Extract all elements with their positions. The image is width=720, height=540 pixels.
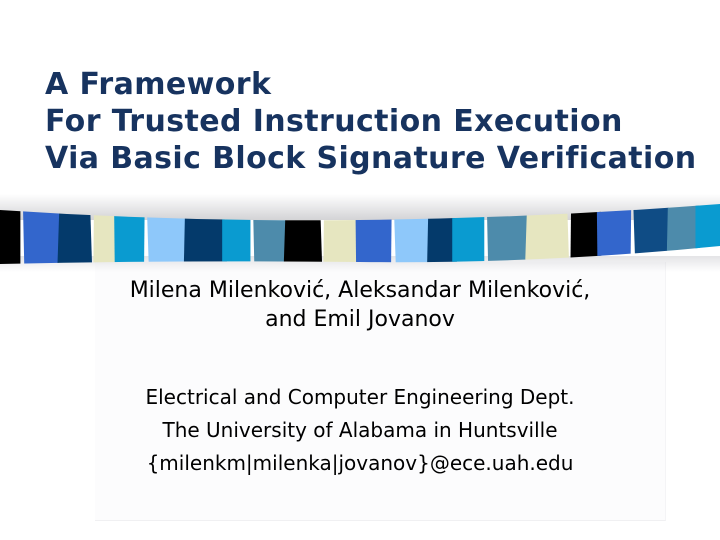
- stripe-2: [57, 180, 92, 272]
- stripe-19: [632, 180, 669, 272]
- decorative-stripe-band: [0, 180, 720, 272]
- title-line-1: A Framework: [45, 66, 685, 103]
- stripe-band-graphic: [0, 180, 720, 272]
- stripe-16: [525, 180, 569, 272]
- affiliation-email: {milenkm|milenka|jovanov}@ece.uah.edu: [95, 447, 625, 480]
- stripe-21: [695, 180, 720, 272]
- title-line-2: For Trusted Instruction Execution: [45, 103, 685, 140]
- stripe-1: [22, 180, 60, 272]
- stripe-15: [486, 180, 528, 272]
- stripe-17: [570, 180, 601, 272]
- stripe-4: [114, 180, 145, 272]
- stripe-0: [0, 180, 20, 272]
- stripe-14: [452, 180, 484, 272]
- stripe-6: [184, 180, 227, 272]
- stripe-10: [323, 180, 360, 272]
- affiliation-university: The University of Alabama in Huntsville: [95, 414, 625, 447]
- author-line-2: and Emil Jovanov: [75, 305, 645, 334]
- stripe-5: [146, 180, 187, 272]
- page-title: A Framework For Trusted Instruction Exec…: [45, 66, 685, 177]
- title-line-3: Via Basic Block Signature Verification: [45, 140, 685, 177]
- stripe-18: [597, 180, 632, 272]
- stripe-8: [252, 180, 286, 272]
- stripe-11: [355, 180, 392, 272]
- author-list: Milena Milenković, Aleksandar Milenković…: [75, 276, 645, 334]
- affiliation-department: Electrical and Computer Engineering Dept…: [95, 381, 625, 414]
- stripe-7: [222, 180, 250, 272]
- stripe-12: [393, 180, 430, 272]
- stripe-9: [284, 180, 323, 272]
- stripe-20: [666, 180, 700, 272]
- affiliation-block: Electrical and Computer Engineering Dept…: [95, 381, 625, 480]
- author-line-1: Milena Milenković, Aleksandar Milenković…: [75, 276, 645, 305]
- presentation-title-slide: A Framework For Trusted Instruction Exec…: [0, 0, 720, 540]
